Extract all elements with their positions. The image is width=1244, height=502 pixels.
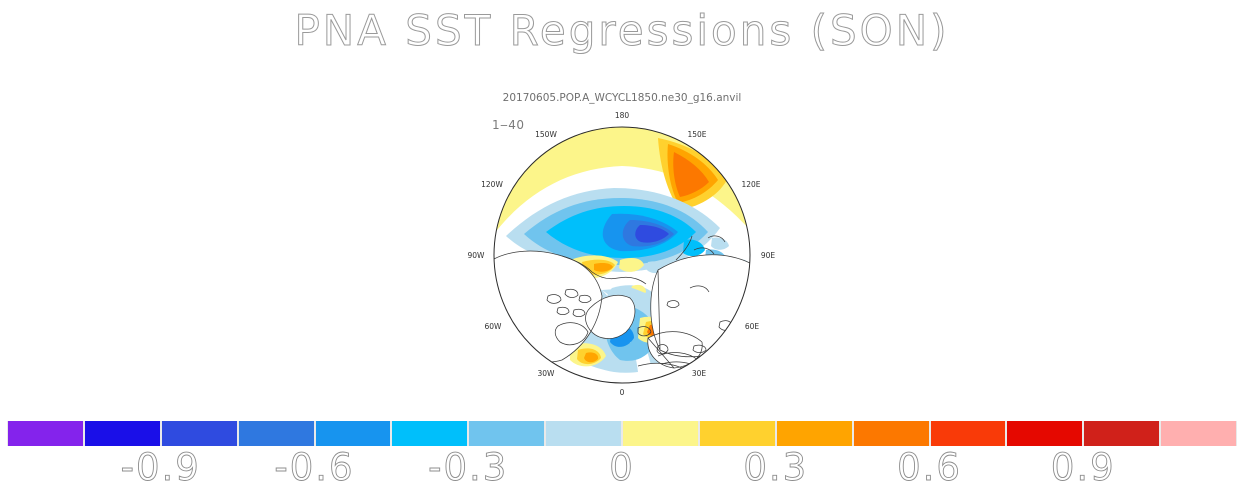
lon-label-60W: 60W [485,322,503,331]
lon-label-30E: 30E [692,369,707,378]
colorbar-cells [7,421,1237,446]
colorbar-cell-6 [468,421,545,446]
colorbar-tick-0.6: 0.6 [897,446,962,489]
colorbar-cell-3 [238,421,315,446]
lon-label-90E: 90E [761,251,776,260]
colorbar [7,421,1237,446]
lon-label-30W: 30W [538,369,556,378]
colorbar-tick-0: 0 [609,446,635,489]
colorbar-cell-10 [776,421,853,446]
sst-anomaly-field [462,110,782,400]
colorbar-cell-2 [161,421,238,446]
colorbar-cell-4 [315,421,392,446]
colorbar-cell-11 [853,421,930,446]
colorbar-tick--0.6: -0.6 [274,446,354,489]
lon-label-120W: 120W [481,180,503,189]
polar-map: 180 150E 120E 90E 60E 30E 0 30W 60W 90W … [462,110,782,400]
lon-label-60E: 60E [745,322,760,331]
colorbar-cell-12 [930,421,1007,446]
map-panel: 20170605.POP.A_WCYCL1850.ne30_g16.anvil … [462,92,782,402]
colorbar-cell-0 [7,421,84,446]
colorbar-tick-labels: -0.9-0.6-0.300.30.60.9 [0,446,1244,498]
colorbar-cell-1 [84,421,161,446]
lon-label-90W: 90W [468,251,486,260]
colorbar-tick--0.3: -0.3 [428,446,508,489]
colorbar-tick--0.9: -0.9 [121,446,201,489]
lon-label-150W: 150W [535,130,557,139]
lon-label-0: 0 [620,388,625,397]
colorbar-cell-13 [1006,421,1083,446]
colorbar-tick-0.3: 0.3 [743,446,808,489]
lon-label-180: 180 [615,111,630,120]
panel-subtitle: 20170605.POP.A_WCYCL1850.ne30_g16.anvil [462,92,782,104]
colorbar-cell-8 [622,421,699,446]
colorbar-cell-15 [1160,421,1237,446]
figure-title: PNA SST Regressions (SON) [0,6,1244,55]
colorbar-tick-0.9: 0.9 [1051,446,1116,489]
colorbar-cell-9 [699,421,776,446]
colorbar-cell-7 [545,421,622,446]
lon-label-150E: 150E [687,130,706,139]
colorbar-cell-5 [391,421,468,446]
colorbar-cell-14 [1083,421,1160,446]
lon-label-120E: 120E [741,180,760,189]
